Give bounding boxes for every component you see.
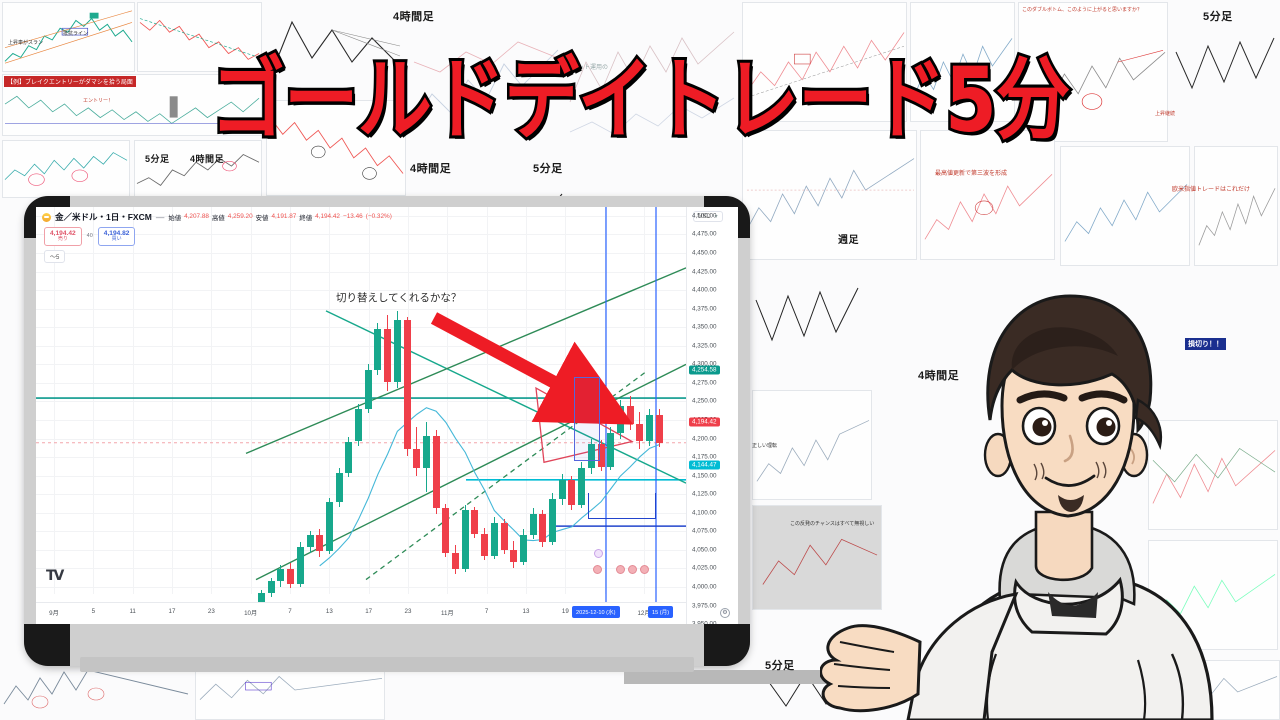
candlestick xyxy=(297,542,304,587)
candlestick xyxy=(336,468,343,507)
candlestick xyxy=(394,311,401,388)
price-axis[interactable]: USD▾ 4,500.004,475.004,450.004,425.004,4… xyxy=(686,207,738,624)
presenter-character xyxy=(820,250,1280,720)
whiteboard-surface: 金／米ドル・1日・FXCM — 始値4,207.88 高値4,259.20 安値… xyxy=(36,207,738,624)
bg-note: 上昇継続 xyxy=(1155,110,1175,117)
bg-note: 正しい理転 xyxy=(752,442,777,449)
time-tick: 23 xyxy=(405,608,412,615)
candle-body xyxy=(481,534,488,556)
candlestick xyxy=(442,504,449,557)
candle-body xyxy=(336,473,343,503)
candlestick xyxy=(481,528,488,561)
time-tick: 11 xyxy=(129,608,135,615)
bg-note-bar: 【例】ブレイクエントリーがダマシを拾う局面 xyxy=(4,76,136,87)
price-tick: 4,050.00 xyxy=(692,546,717,553)
gear-icon[interactable]: ⚙ xyxy=(720,608,730,618)
bg-note: 抵抗ライン xyxy=(63,30,88,37)
price-tick: 4,025.00 xyxy=(692,565,717,572)
trading-chart[interactable]: 金／米ドル・1日・FXCM — 始値4,207.88 高値4,259.20 安値… xyxy=(36,207,738,624)
candlestick xyxy=(559,474,566,505)
candlestick xyxy=(568,476,575,510)
candle-body xyxy=(297,547,304,584)
candle-body xyxy=(510,550,517,562)
whiteboard-corner-bottom-right xyxy=(704,624,750,666)
price-tick: 4,100.00 xyxy=(692,509,717,516)
price-tick: 4,325.00 xyxy=(692,342,717,349)
price-label-cyan: 4,144.47 xyxy=(689,461,720,470)
candlestick xyxy=(656,409,663,448)
candlestick xyxy=(627,396,634,430)
time-tick: 5 xyxy=(92,608,95,615)
candle-body xyxy=(568,480,575,505)
highlight-rectangle xyxy=(574,377,600,461)
candle-body xyxy=(656,415,663,443)
candle-body xyxy=(404,320,411,449)
candle-body xyxy=(452,553,459,569)
background-chart-tile xyxy=(1194,146,1278,266)
bg-note: ピボット運用の xyxy=(566,62,608,71)
time-tick: 7 xyxy=(288,608,291,615)
candle-body xyxy=(471,510,478,534)
candlestick xyxy=(539,510,546,547)
time-tick: 19 xyxy=(562,608,569,615)
candlestick xyxy=(287,563,294,588)
candle-body xyxy=(617,406,624,433)
price-tick: 4,375.00 xyxy=(692,305,717,312)
candle-body xyxy=(374,329,381,371)
candlestick xyxy=(578,462,585,508)
candle-body xyxy=(307,535,314,547)
candle-body xyxy=(501,523,508,550)
candlestick xyxy=(617,400,624,439)
background-chart-tile xyxy=(137,2,262,72)
candlestick xyxy=(384,315,391,391)
candle-body xyxy=(258,593,265,602)
candlestick xyxy=(452,545,459,573)
background-chart-tile xyxy=(1060,146,1190,266)
candle-body xyxy=(268,581,275,593)
candlestick xyxy=(307,531,314,553)
event-marker-icon[interactable] xyxy=(594,549,603,558)
background-chart-tile xyxy=(910,2,1015,122)
time-tick: 10月 xyxy=(244,608,257,617)
background-chart-tile xyxy=(920,130,1055,260)
candle-body xyxy=(442,508,449,553)
background-chart-tile xyxy=(566,2,736,152)
background-chart-tile xyxy=(266,100,406,196)
time-tick: 9月 xyxy=(49,608,59,617)
event-marker-icon[interactable] xyxy=(593,565,602,574)
time-tick: 23 xyxy=(208,608,215,615)
bg-label: 5分足 xyxy=(533,160,563,176)
time-tick: 13 xyxy=(326,608,333,615)
candlestick xyxy=(365,364,372,413)
bg-note: 欧米指値トレードはこれだけ xyxy=(1172,184,1250,193)
candle-body xyxy=(462,510,469,569)
bg-label: 週足 xyxy=(838,231,859,246)
candlestick xyxy=(462,505,469,572)
candle-body xyxy=(491,523,498,556)
candle-body xyxy=(433,436,440,509)
price-label-teal: 4,254.58 xyxy=(689,366,720,375)
candlestick xyxy=(491,517,498,559)
candle-body xyxy=(287,569,294,584)
candlestick xyxy=(501,519,508,555)
background-chart-tile xyxy=(742,2,907,122)
candle-body xyxy=(326,502,333,551)
price-tick: 4,250.00 xyxy=(692,398,717,405)
candle-body xyxy=(530,514,537,535)
candlestick xyxy=(277,565,284,587)
background-chart-tile xyxy=(134,140,262,198)
time-tick: 7 xyxy=(485,608,488,615)
tradingview-logo: TV xyxy=(46,568,62,584)
price-tick: 4,125.00 xyxy=(692,491,717,498)
candle-body xyxy=(365,370,372,409)
bg-note: 上昇車がスラン xyxy=(8,39,43,46)
candle-body xyxy=(423,436,430,469)
blue-zone-rectangle xyxy=(588,493,656,519)
candlestick xyxy=(326,498,333,554)
candle-body xyxy=(384,329,391,382)
bg-label: 5分足 xyxy=(145,152,170,165)
candle-body xyxy=(636,424,643,442)
price-tick: 4,075.00 xyxy=(692,528,717,535)
time-badge-next: 15 (月) xyxy=(648,606,673,618)
background-chart-tile xyxy=(742,130,917,260)
price-label-red: 4,194.42 xyxy=(689,418,720,427)
candle-body xyxy=(646,415,653,442)
event-marker-icon[interactable] xyxy=(640,565,649,574)
price-tick: 4,150.00 xyxy=(692,472,717,479)
time-tick: 13 xyxy=(523,608,530,615)
background-chart-tile xyxy=(2,2,135,72)
time-tick: 17 xyxy=(365,608,372,615)
candle-body xyxy=(539,514,546,542)
bg-label: 4時間足 xyxy=(190,152,224,165)
candlestick xyxy=(268,578,275,597)
candle-body xyxy=(394,320,401,382)
candlestick xyxy=(646,409,653,446)
price-tick: 3,950.00 xyxy=(692,621,717,624)
background-chart-tile xyxy=(268,2,404,98)
price-tick: 4,475.00 xyxy=(692,231,717,238)
price-tick: 4,425.00 xyxy=(692,268,717,275)
price-tick: 4,400.00 xyxy=(692,287,717,294)
bg-note: エントリー！ xyxy=(83,97,113,104)
candlestick xyxy=(316,529,323,557)
event-marker-icon[interactable] xyxy=(628,565,637,574)
candle-body xyxy=(607,433,614,467)
candle-body xyxy=(578,468,585,505)
candle-body xyxy=(316,535,323,551)
time-badge-current: 2025-12-10 (水) xyxy=(572,606,620,618)
candlestick xyxy=(549,493,556,545)
candlestick xyxy=(510,541,517,568)
chart-annotation: 切り替えしてくれるかな？ xyxy=(336,290,461,305)
price-tick: 4,500.00 xyxy=(692,212,717,219)
candle-body xyxy=(355,409,362,442)
bg-label: 4時間足 xyxy=(410,160,451,176)
candle-body xyxy=(549,499,556,542)
price-tick: 3,975.00 xyxy=(692,602,717,609)
candle-body xyxy=(345,442,352,473)
candlestick xyxy=(530,508,537,539)
bg-label: 5分足 xyxy=(1203,8,1233,24)
whiteboard-corner-bottom-left xyxy=(24,624,70,666)
price-tick: 4,350.00 xyxy=(692,324,717,331)
price-tick: 4,200.00 xyxy=(692,435,717,442)
whiteboard: 金／米ドル・1日・FXCM — 始値4,207.88 高値4,259.20 安値… xyxy=(24,196,750,666)
candle-body xyxy=(627,406,634,424)
candlestick xyxy=(636,412,643,449)
candle-body xyxy=(277,569,284,581)
time-tick: 11月 xyxy=(441,608,454,617)
price-tick: 4,450.00 xyxy=(692,250,717,257)
price-tick: 4,000.00 xyxy=(692,583,717,590)
candlestick xyxy=(345,437,352,477)
candlestick xyxy=(423,422,430,492)
whiteboard-tray xyxy=(80,657,694,672)
bg-label: 5分足 xyxy=(765,657,795,673)
candle-body xyxy=(520,535,527,562)
bg-label: 4時間足 xyxy=(393,8,434,24)
background-chart-tile xyxy=(2,140,130,198)
candle-body xyxy=(413,449,420,468)
price-tick: 4,275.00 xyxy=(692,379,717,386)
candlestick xyxy=(607,427,614,470)
candlestick xyxy=(471,507,478,538)
time-tick: 17 xyxy=(169,608,176,615)
candlestick xyxy=(433,430,440,515)
event-marker-icon[interactable] xyxy=(616,565,625,574)
candlestick xyxy=(404,317,411,457)
candlestick xyxy=(413,427,420,476)
candlestick xyxy=(355,404,362,446)
time-axis[interactable]: 9月511172310月713172311月713192512月 2025-12… xyxy=(36,602,686,624)
candlestick xyxy=(520,529,527,565)
candle-body xyxy=(559,480,566,499)
bg-note: このダブルボトム、このように上がると思いますか？ xyxy=(1022,6,1142,13)
background-chart-tile xyxy=(1018,2,1168,142)
bg-note: 最高値更新で第三波を形成 xyxy=(935,168,1007,177)
candlestick xyxy=(374,323,381,375)
